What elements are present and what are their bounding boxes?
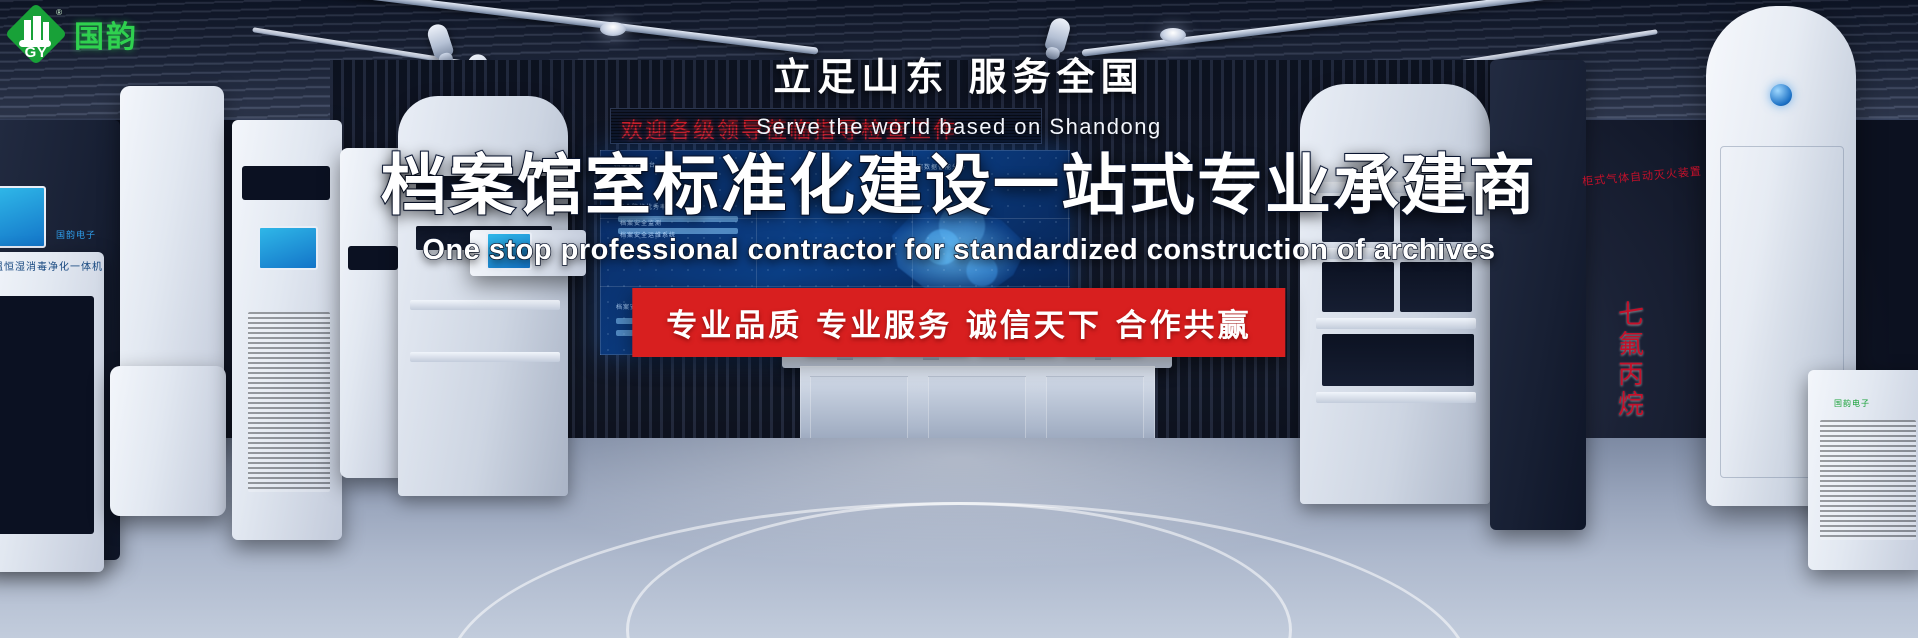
main-headline-chinese: 档案馆室标准化建设一站式专业承建商 [381,132,1537,228]
hero-overlay: GY ® 国韵 立足山东 服务全国 Serve the world based … [0,0,1918,638]
slogan-banner: 专业品质 专业服务 诚信天下 合作共赢 [632,288,1285,357]
logo-building-bar [33,16,41,42]
logo-building-bar [43,22,49,42]
main-headline-english: One stop professional contractor for sta… [422,234,1495,267]
registered-trademark-icon: ® [56,8,62,17]
hero-banner: 欢迎各级领导莅临指导检查工作 档案管理平台 安全防护优秀率 档案安全监测 档案安… [0,0,1918,638]
slogan-text: 专业品质 专业服务 诚信天下 合作共赢 [666,300,1251,345]
site-logo[interactable]: GY ® 国韵 [8,6,138,62]
logo-brand-name: 国韵 [74,12,138,56]
tagline-chinese: 立足山东 服务全国 [773,46,1144,101]
logo-building-bar [24,20,31,42]
gy-building-diamond-icon: GY ® [8,6,64,62]
logo-gy-text: GY [8,44,64,61]
